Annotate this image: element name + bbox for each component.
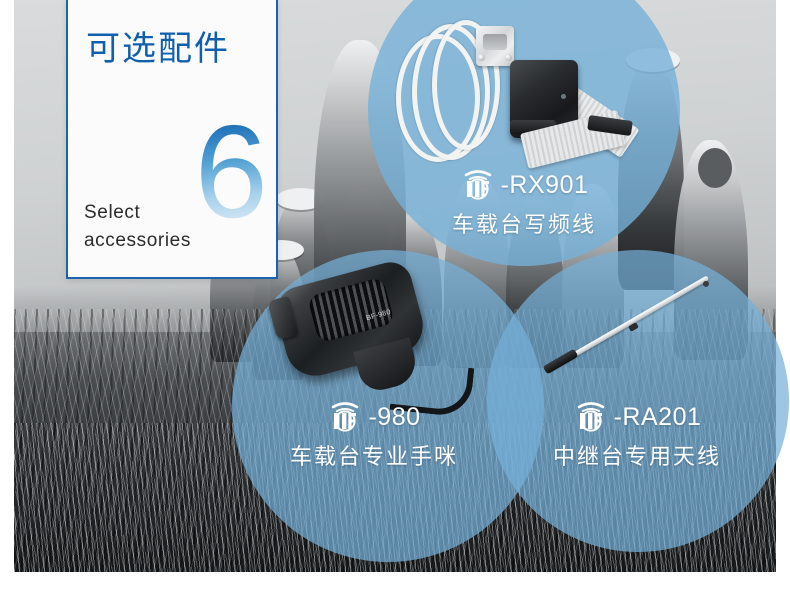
- accessory-feature-banner: BF-980 -RX901 车载台写频线: [0, 0, 790, 600]
- product-image-microphone: BF-980: [262, 268, 462, 408]
- caption-980: -980 车载台专业手咪: [268, 402, 480, 471]
- antenna-base-connector: [543, 349, 579, 375]
- caption-rx901: -RX901 车载台写频线: [404, 170, 644, 239]
- section-number: 6: [195, 119, 268, 225]
- product-name-cn: 中继台专用天线: [533, 439, 741, 471]
- section-subtitle: Select accessories: [84, 199, 191, 254]
- db9-connector: [476, 26, 514, 66]
- model-label: -980: [368, 403, 420, 432]
- bf-logo-icon: [460, 170, 496, 200]
- subtitle-line-1: Select: [84, 199, 191, 227]
- model-label: -RA201: [614, 403, 702, 432]
- product-image-antenna: [533, 272, 733, 392]
- page-title: 可选配件: [86, 21, 230, 70]
- subtitle-line-2: accessories: [84, 227, 191, 255]
- product-name-cn: 车载台写频线: [404, 207, 644, 239]
- section-title-panel: 可选配件 6 Select accessories: [66, 0, 278, 279]
- product-name-cn: 车载台专业手咪: [268, 439, 480, 471]
- bf-logo-icon: [573, 402, 609, 432]
- photo-head: [698, 148, 732, 188]
- model-label: -RX901: [501, 171, 589, 200]
- bf-logo-icon: [327, 402, 363, 432]
- caption-ra201: -RA201 中继台专用天线: [533, 402, 741, 471]
- product-image-programming-cable: [392, 8, 622, 173]
